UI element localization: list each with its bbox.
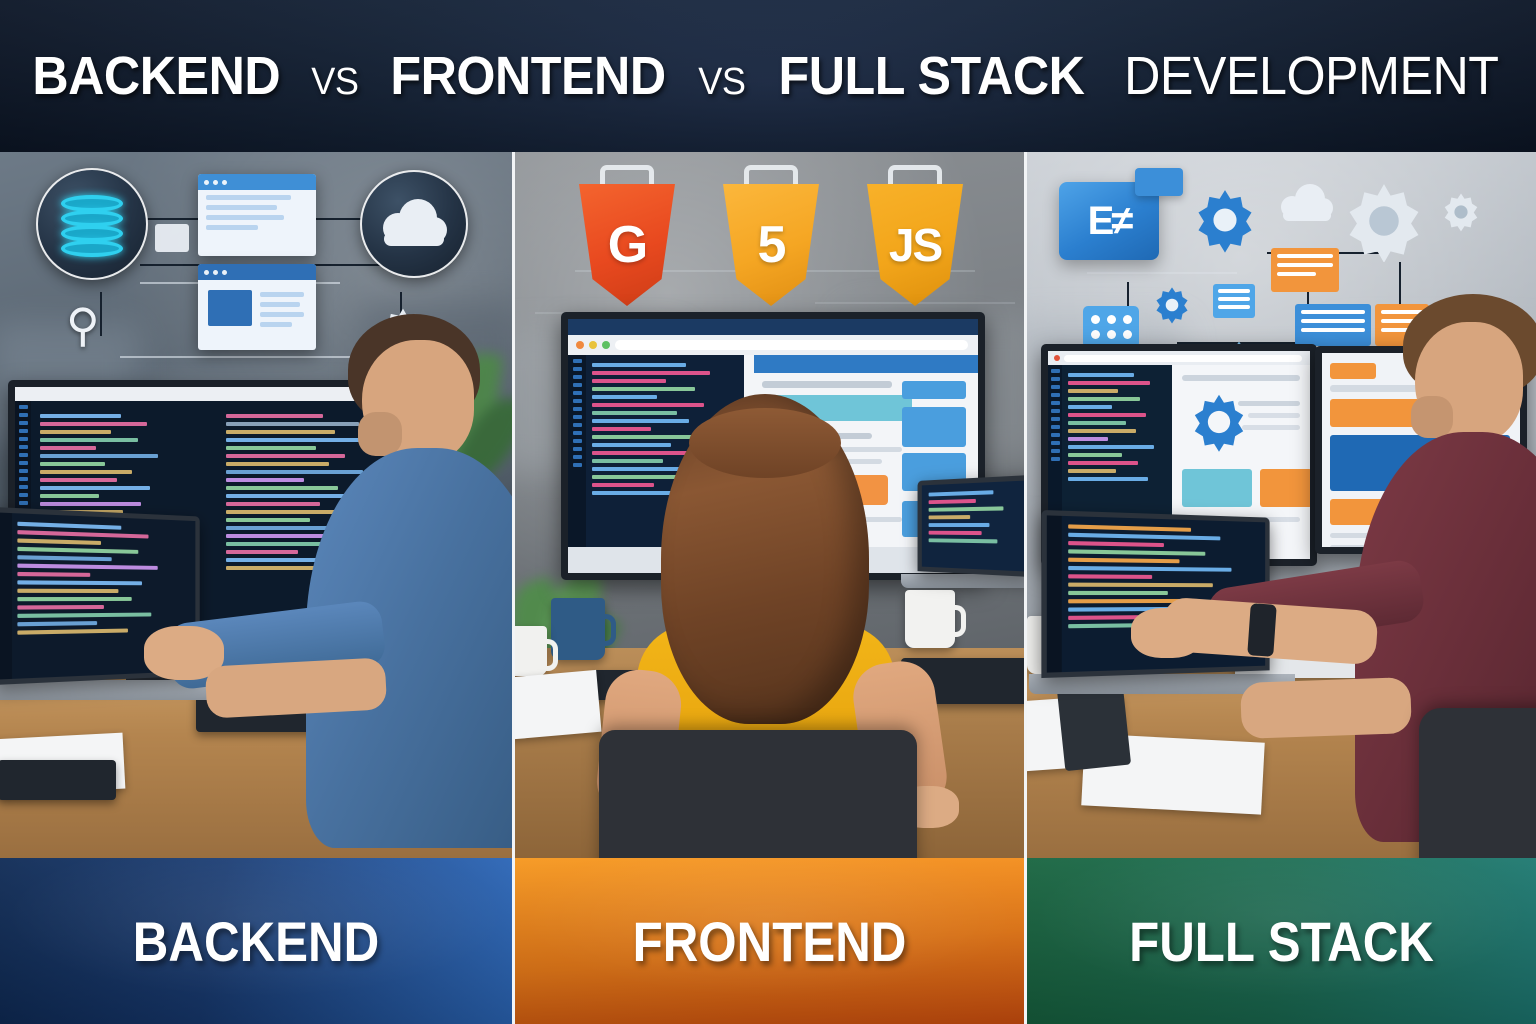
banner-fullstack: FULL STACK [1024,858,1536,1024]
title-part-backend: BACKEND [32,49,280,103]
panel-frontend: G 5 JS [512,152,1024,858]
panel-backend: ⚲ [0,152,512,858]
title-part-frontend: FRONTEND [391,49,666,103]
banner-frontend: FRONTEND [512,858,1024,1024]
infographic-root: BACKEND VS FRONTEND VS FULL STACK DEVELO… [0,0,1536,1024]
papers [512,670,602,740]
title-separator-1: VS [306,63,365,101]
banner-label-frontend: FRONTEND [546,909,994,974]
mini-card-icon [1135,168,1183,196]
backend-developer [276,308,512,858]
backend-developer-scene [0,298,512,858]
header-band: BACKEND VS FRONTEND VS FULL STACK DEVELO… [0,0,1536,152]
css3-shield-icon: 5 [723,184,819,306]
api-window-icon [198,174,316,256]
banner-label-fullstack: FULL STACK [1058,909,1506,974]
title-part-fullstack: FULL STACK [778,49,1084,103]
blue-coffee-mug [551,598,605,660]
side-laptop [911,478,1024,588]
title-separator-2: VS [692,63,751,101]
panel-row: ⚲ [0,152,1536,858]
fullstack-developer-scene [1027,298,1536,858]
hand [1131,608,1203,658]
html5-shield-icon: G [579,184,675,306]
office-chair [1419,708,1536,858]
forearm-lower [1240,677,1412,739]
cloud-icon [360,170,468,278]
banner-backend: BACKEND [0,858,512,1024]
banner-label-backend: BACKEND [31,909,482,974]
wristwatch [1247,603,1277,657]
panel-fullstack: E≠ [1024,152,1536,858]
page-title: BACKEND VS FRONTEND VS FULL STACK DEVELO… [0,49,1536,103]
frontend-developer-scene [515,298,1024,858]
white-mug [512,626,547,676]
database-icon [36,168,148,280]
tablet [1057,683,1131,771]
title-part-development: DEVELOPMENT [1125,49,1499,103]
cloud-icon [1279,186,1339,226]
office-chair [599,730,917,858]
gear-icon [1191,186,1259,254]
forearm [205,657,387,718]
javascript-shield-icon: JS [867,184,963,306]
banner-row: BACKEND FRONTEND FULL STACK [0,858,1536,1024]
mechanical-keyboard [0,760,116,800]
gear-tiny-icon [1439,190,1483,234]
sql-badge-icon [155,224,189,252]
gear-large-icon [1343,180,1425,262]
